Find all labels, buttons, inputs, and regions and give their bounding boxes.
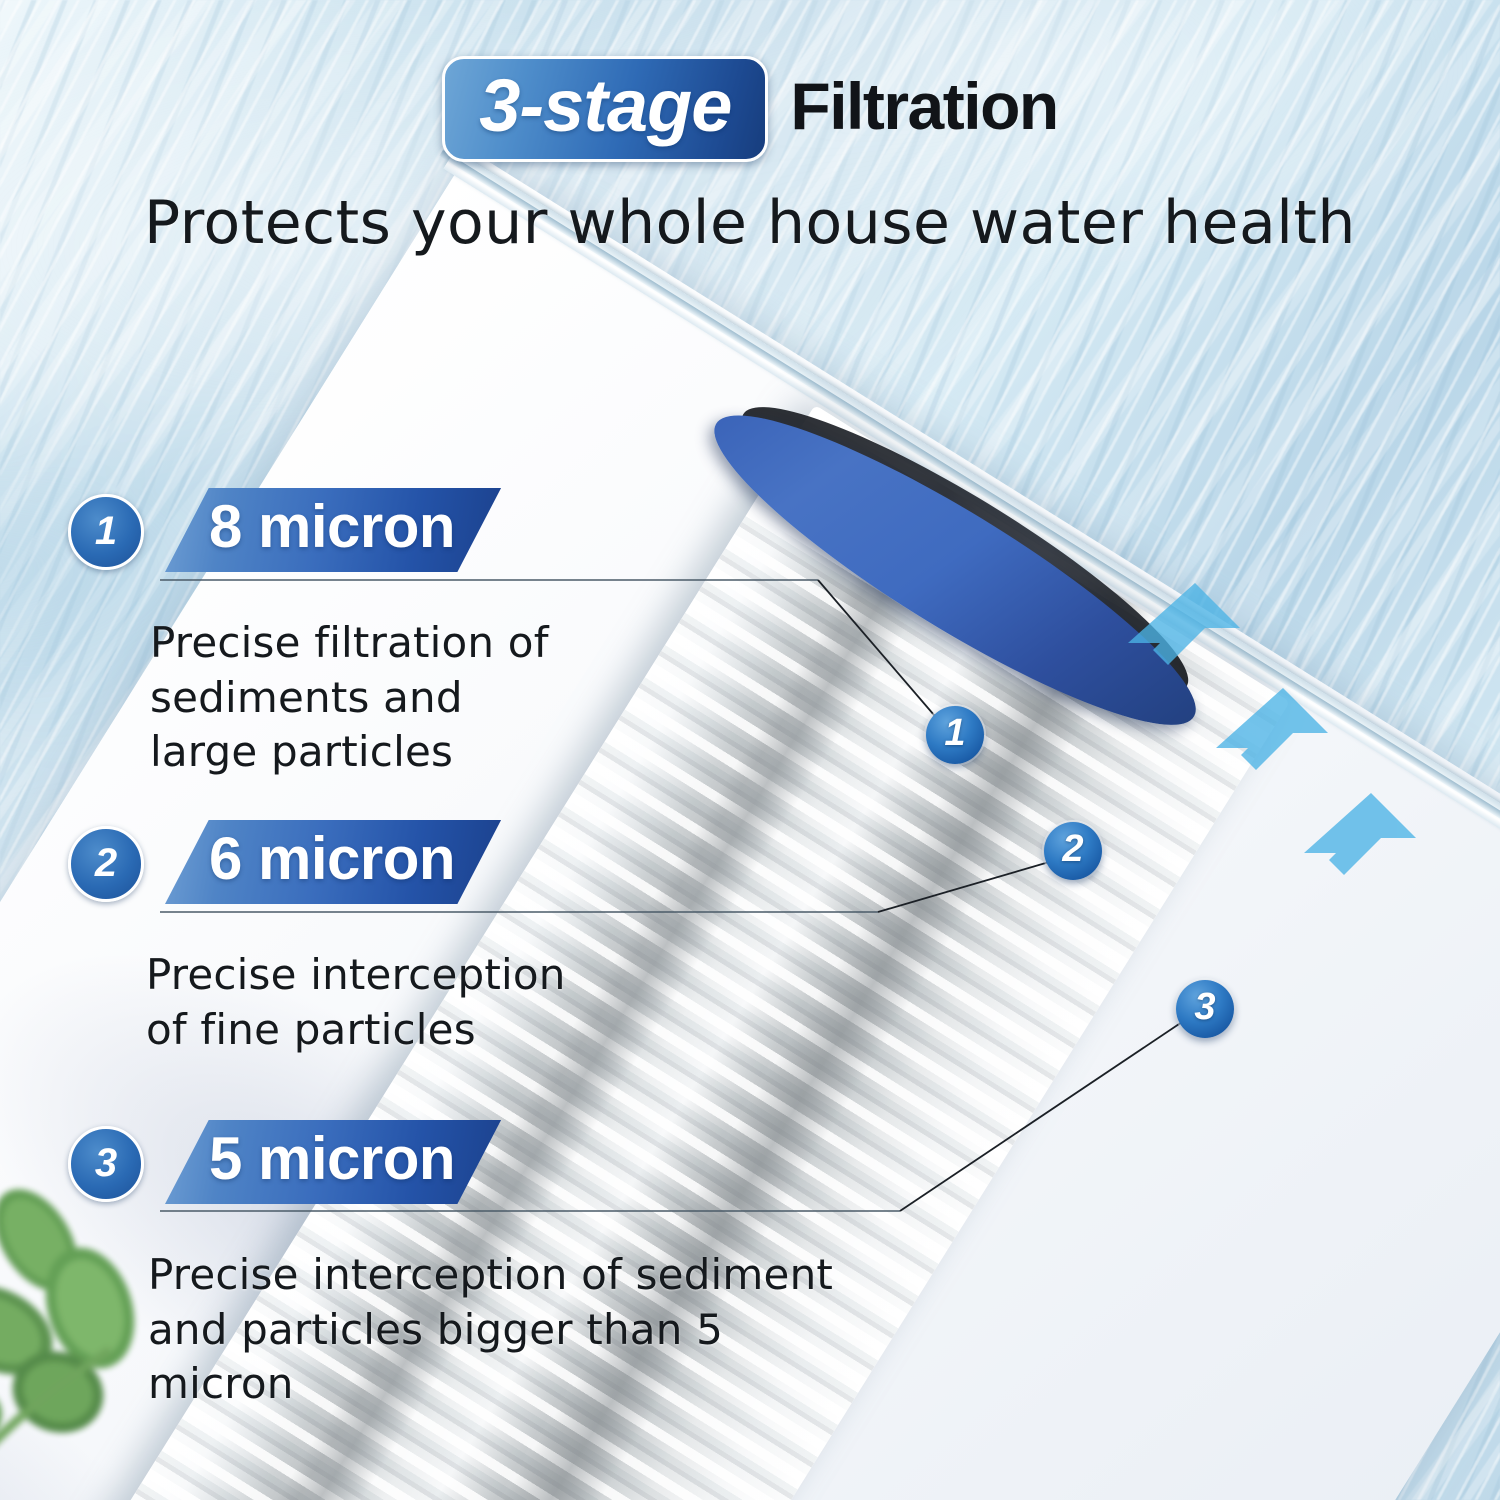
leader-line-1-diagonal [818, 580, 940, 722]
product-marker-3[interactable]: 3 [1176, 980, 1234, 1038]
blue-cap-ring [678, 378, 1232, 762]
callout-2-head: 2 6 micron [68, 820, 628, 902]
infographic-canvas: 3-stage Filtration Protects your whole h… [0, 0, 1500, 1500]
page-title: 3-stage Filtration [0, 56, 1500, 162]
callout-3-number-badge: 3 [68, 1126, 144, 1202]
header: 3-stage Filtration Protects your whole h… [0, 56, 1500, 258]
product-marker-2-number: 2 [1062, 830, 1083, 868]
product-marker-2[interactable]: 2 [1044, 822, 1102, 880]
leader-line-3-diagonal [900, 1018, 1188, 1211]
callout-3-number: 3 [95, 1143, 117, 1183]
callout-1-description: Precise filtration of sediments and larg… [150, 616, 570, 780]
callout-3-head: 3 5 micron [68, 1120, 868, 1202]
product-marker-3-number: 3 [1194, 988, 1215, 1026]
callout-3-banner: 5 micron [165, 1120, 501, 1204]
callout-2-number-badge: 2 [68, 826, 144, 902]
product-marker-1[interactable]: 1 [926, 706, 984, 764]
callout-1-number: 1 [95, 511, 117, 551]
page-subtitle: Protects your whole house water health [0, 188, 1500, 258]
product-marker-1-number: 1 [944, 714, 965, 752]
callout-3-description: Precise interception of sediment and par… [148, 1248, 868, 1412]
title-highlight-text: 3-stage [479, 64, 731, 147]
callout-1-label: 8 micron [209, 497, 455, 557]
callout-stage-1[interactable]: 1 8 micron Precise filtration of sedimen… [68, 488, 628, 780]
title-highlight-badge: 3-stage [442, 56, 768, 162]
callout-stage-2[interactable]: 2 6 micron Precise interception of fine … [68, 820, 628, 1057]
callout-3-label: 5 micron [209, 1129, 455, 1189]
title-rest-text: Filtration [790, 73, 1057, 139]
callout-stage-3[interactable]: 3 5 micron Precise interception of sedim… [68, 1120, 868, 1412]
callout-1-number-badge: 1 [68, 494, 144, 570]
callout-2-banner: 6 micron [165, 820, 501, 904]
callout-2-description: Precise interception of fine particles [146, 948, 616, 1057]
leader-line-2-diagonal [878, 860, 1056, 912]
callout-2-number: 2 [95, 843, 117, 883]
callout-2-label: 6 micron [209, 829, 455, 889]
cap-inner-shadow [709, 373, 1221, 727]
callout-1-banner: 8 micron [165, 488, 501, 572]
callout-1-head: 1 8 micron [68, 488, 628, 570]
